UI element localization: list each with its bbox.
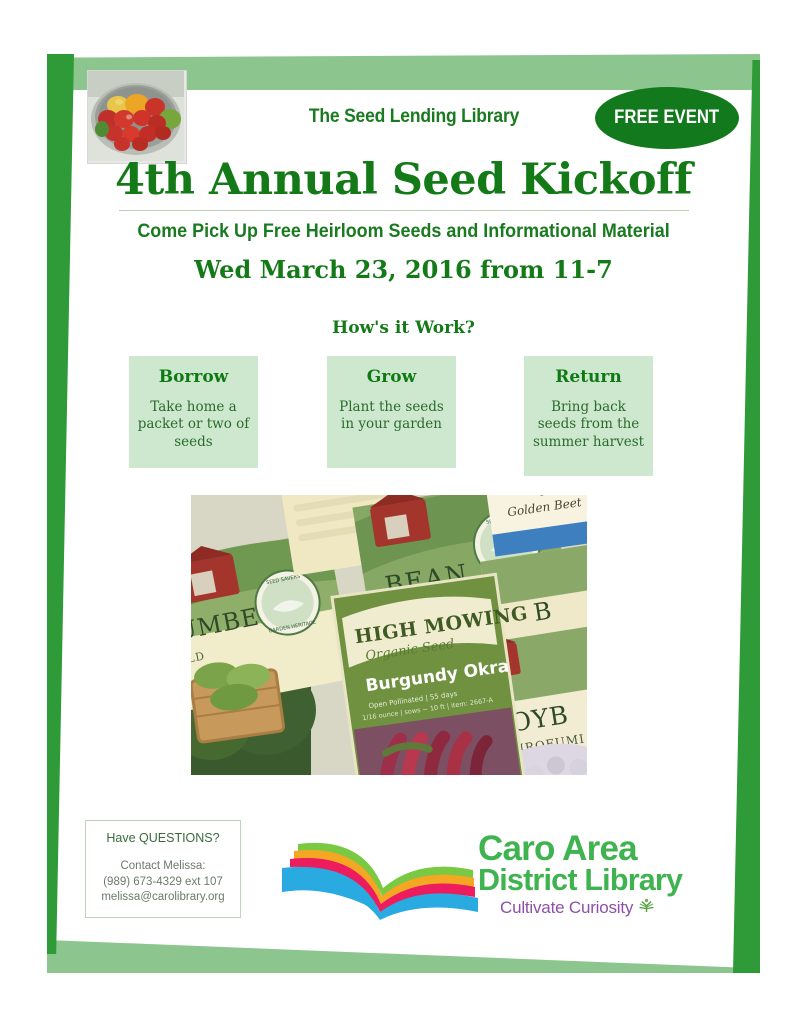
poster-tagline: Come Pick Up Free Heirloom Seeds and Inf…	[100, 220, 706, 243]
step-card-return: Return Bring back seeds from the summer …	[524, 356, 653, 476]
step-title: Return	[524, 367, 653, 387]
seed-kickoff-poster: The Seed Lending Library FREE EVENT 4th …	[0, 0, 800, 1035]
step-title: Borrow	[129, 367, 258, 387]
step-title: Grow	[327, 367, 456, 387]
poster-content: The Seed Lending Library FREE EVENT 4th …	[74, 60, 733, 955]
library-logo-text: Caro Area District Library Cultivate Cur…	[478, 832, 738, 918]
library-name-line2: District Library	[478, 866, 738, 896]
headline-divider	[119, 210, 689, 211]
seed-packets-photo: CUMBER YIELD SEED SAVERS GARDEN HERITAGE	[191, 495, 587, 775]
step-description: Take home a packet or two of seeds	[129, 399, 258, 451]
free-event-badge-label: FREE EVENT	[615, 107, 720, 129]
how-it-works-steps: Borrow Take home a packet or two of seed…	[122, 356, 702, 476]
step-description: Plant the seeds in your garden	[327, 399, 456, 434]
event-datetime: Wed March 23, 2016 from 11-7	[74, 255, 733, 284]
library-tagline: Cultivate Curiosity	[500, 898, 633, 918]
contact-phone[interactable]: (989) 673-4329 ext 107	[86, 875, 240, 891]
open-book-logo-icon	[268, 830, 488, 920]
library-tagline-row: Cultivate Curiosity	[478, 898, 738, 918]
free-event-badge: FREE EVENT	[595, 87, 739, 149]
frame-left-band	[47, 54, 74, 954]
contact-person: Contact Melissa:	[86, 859, 240, 875]
step-description: Bring back seeds from the summer harvest	[524, 399, 653, 451]
step-card-grow: Grow Plant the seeds in your garden	[327, 356, 456, 468]
contact-email[interactable]: melissa@carolibrary.org	[86, 890, 240, 906]
how-it-works-heading: How's it Work?	[74, 318, 733, 338]
sprout-icon	[638, 898, 655, 918]
poster-headline: 4th Annual Seed Kickoff	[74, 155, 733, 205]
contact-box: Have QUESTIONS? Contact Melissa: (989) 6…	[85, 820, 241, 918]
organization-name: The Seed Lending Library	[239, 106, 589, 128]
tomato-bowl-photo	[87, 70, 187, 164]
library-name-line1: Caro Area	[478, 832, 738, 866]
step-card-borrow: Borrow Take home a packet or two of seed…	[129, 356, 258, 468]
contact-title: Have QUESTIONS?	[86, 831, 240, 845]
